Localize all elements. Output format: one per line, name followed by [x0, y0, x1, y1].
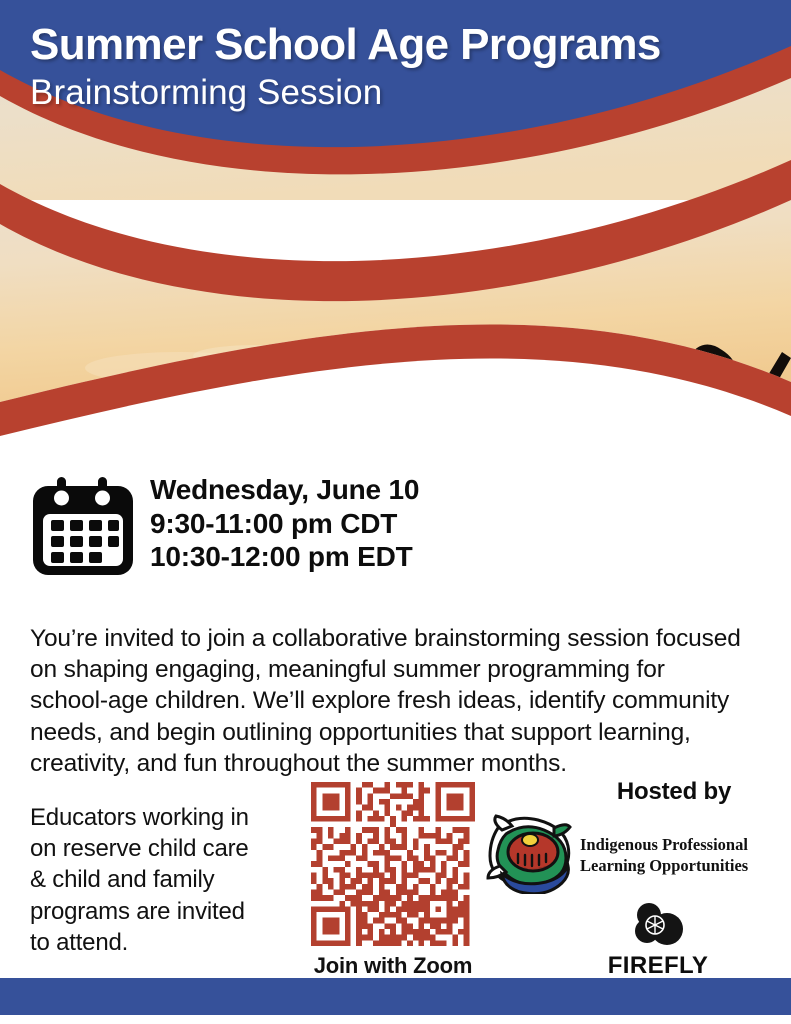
zoom-join-caption: Join with Zoom [303, 953, 483, 979]
event-time-cdt: 9:30-11:00 pm CDT [150, 507, 419, 541]
event-date: Wednesday, June 10 [150, 473, 419, 507]
hosted-by-label: Hosted by [568, 778, 780, 806]
firefly-name: FIREFLY [588, 952, 728, 980]
iplo-host: Indigenous Professional Learning Opportu… [480, 812, 780, 899]
iplo-name: Indigenous Professional Learning Opportu… [580, 835, 748, 875]
iplo-turtle-logo [480, 812, 576, 899]
zoom-join-block[interactable]: Join with Zoom [303, 782, 483, 979]
title-group: Summer School Age Programs Brainstorming… [30, 22, 770, 113]
iplo-name-line-1: Indigenous Professional [580, 835, 748, 854]
calendar-icon [30, 477, 136, 582]
qr-code-icon[interactable] [311, 782, 475, 946]
hero-photo [0, 150, 791, 470]
flyer-subtitle: Brainstorming Session [30, 73, 770, 113]
audience-note: Educators working in on reserve child ca… [30, 802, 270, 958]
description-paragraph: You’re invited to join a collaborative b… [30, 623, 746, 780]
event-date-lines: Wednesday, June 10 9:30-11:00 pm CDT 10:… [150, 473, 419, 574]
flyer-title: Summer School Age Programs [30, 22, 770, 69]
event-time-edt: 10:30-12:00 pm EDT [150, 540, 419, 574]
event-flyer: Summer School Age Programs Brainstorming… [0, 0, 791, 1024]
iplo-name-line-2: Learning Opportunities [580, 856, 748, 875]
children-silhouette-photo [0, 150, 791, 470]
footer-band [0, 978, 791, 1015]
firefly-host: FIREFLY [588, 901, 728, 980]
hosted-by-block: Hosted by [480, 778, 780, 980]
event-date-block: Wednesday, June 10 9:30-11:00 pm CDT 10:… [30, 473, 419, 582]
firefly-circles-logo [621, 901, 695, 949]
